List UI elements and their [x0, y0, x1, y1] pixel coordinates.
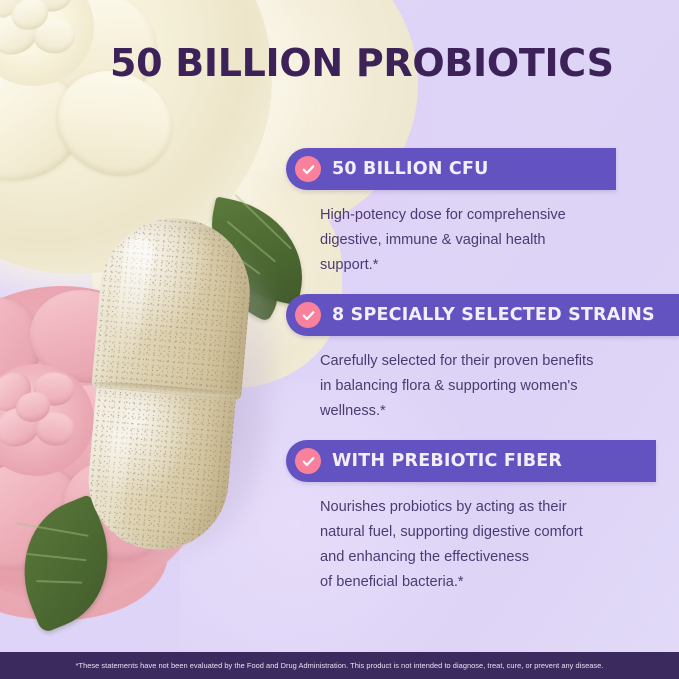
- feature-item-strains: 8 SPECIALLY SELECTED STRAINS Carefully s…: [286, 294, 679, 424]
- disclaimer-footer: *These statements have not been evaluate…: [0, 652, 679, 679]
- description-line: High-potency dose for comprehensive: [320, 203, 679, 228]
- description-line: and enhancing the effectiveness: [320, 545, 679, 570]
- disclaimer-text: *These statements have not been evaluate…: [76, 661, 604, 670]
- description-line: wellness.*: [320, 399, 679, 424]
- description-line: Nourishes probiotics by acting as their: [320, 495, 679, 520]
- check-circle-icon: [295, 448, 321, 474]
- check-circle-icon: [295, 156, 321, 182]
- feature-banner[interactable]: WITH PREBIOTIC FIBER: [286, 440, 656, 482]
- description-line: of beneficial bacteria.*: [320, 570, 679, 595]
- feature-banner[interactable]: 50 BILLION CFU: [286, 148, 616, 190]
- feature-list: 50 BILLION CFU High-potency dose for com…: [286, 148, 679, 595]
- feature-heading: WITH PREBIOTIC FIBER: [332, 451, 562, 471]
- description-line: support.*: [320, 253, 679, 278]
- feature-description: Nourishes probiotics by acting as their …: [286, 482, 679, 595]
- feature-heading: 8 SPECIALLY SELECTED STRAINS: [332, 305, 655, 325]
- check-circle-icon: [295, 302, 321, 328]
- page-title: 50 BILLION PROBIOTICS: [110, 41, 614, 85]
- description-line: digestive, immune & vaginal health: [320, 228, 679, 253]
- feature-heading: 50 BILLION CFU: [332, 159, 489, 179]
- description-line: Carefully selected for their proven bene…: [320, 349, 679, 374]
- feature-description: Carefully selected for their proven bene…: [286, 336, 679, 424]
- feature-banner[interactable]: 8 SPECIALLY SELECTED STRAINS: [286, 294, 679, 336]
- feature-description: High-potency dose for comprehensive dige…: [286, 190, 679, 278]
- feature-item-prebiotic: WITH PREBIOTIC FIBER Nourishes probiotic…: [286, 440, 679, 595]
- description-line: natural fuel, supporting digestive comfo…: [320, 520, 679, 545]
- product-infographic: 50 BILLION PROBIOTICS 50 BILLION CFU Hig…: [0, 0, 679, 679]
- content-layer: 50 BILLION PROBIOTICS 50 BILLION CFU Hig…: [0, 0, 679, 679]
- description-line: in balancing flora & supporting women's: [320, 374, 679, 399]
- feature-item-cfu: 50 BILLION CFU High-potency dose for com…: [286, 148, 679, 278]
